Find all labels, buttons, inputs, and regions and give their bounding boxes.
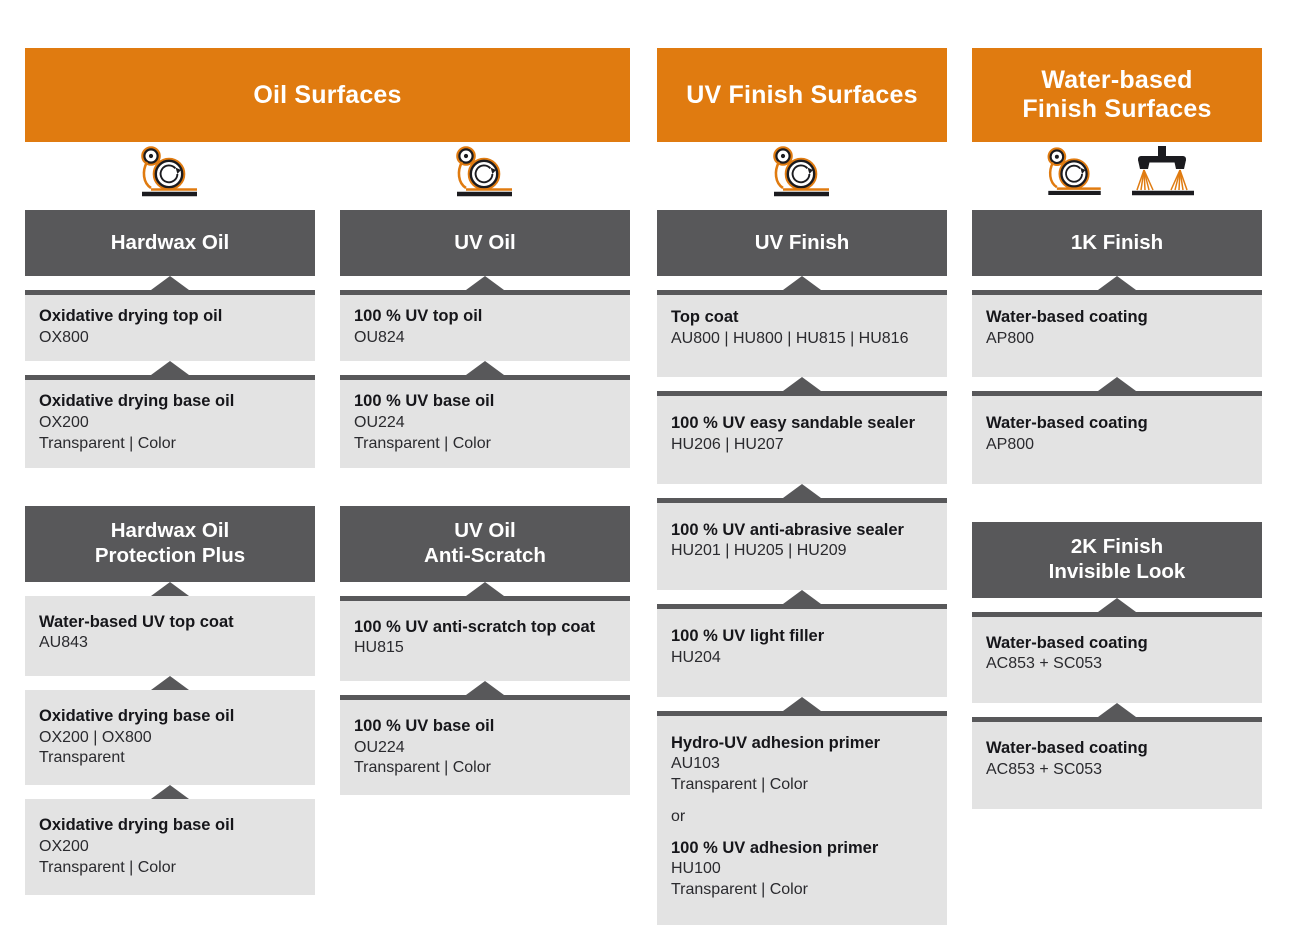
layer-title: Water-based coating <box>986 738 1248 759</box>
stack-2k-finish-invisible-look: 2K Finish Invisible Look Water-based coa… <box>972 522 1262 809</box>
arrow-connector <box>657 276 947 290</box>
stack-uv-oil-anti-scratch: UV Oil Anti-Scratch 100 % UV anti-scratc… <box>340 506 630 796</box>
layer-or-label: or <box>671 807 933 828</box>
layer-title: Top coat <box>671 307 933 328</box>
product-header-line2: Protection Plus <box>95 544 245 569</box>
layer-code: OX200 <box>39 837 301 858</box>
product-header-line1: UV Oil <box>424 519 546 544</box>
stack-hardwax-oil-protection-plus: Hardwax Oil Protection Plus Water-based … <box>25 506 315 895</box>
column-uv-oil: UV Oil 100 % UV top oil OU824 100 % UV b… <box>340 210 630 795</box>
layer-code: AU843 <box>39 633 301 654</box>
layer-box: 100 % UV light filler HU204 <box>657 604 947 696</box>
triangle-up-icon <box>783 590 821 604</box>
triangle-up-icon <box>1098 377 1136 391</box>
arrow-connector <box>25 785 315 799</box>
layer-box: 100 % UV anti-scratch top coat HU815 <box>340 596 630 681</box>
layer-box: Oxidative drying base oil OX200 Transpar… <box>25 799 315 894</box>
layer-code: HU204 <box>671 648 933 669</box>
group-header-water-based-finish-surfaces: Water-based Finish Surfaces <box>972 48 1262 142</box>
layer-code: AP800 <box>986 329 1248 350</box>
layer-box: 100 % UV base oil OU224 Transparent | Co… <box>340 375 630 467</box>
arrow-connector <box>972 377 1262 391</box>
product-header-1k-finish: 1K Finish <box>972 210 1262 276</box>
group-header-title: Oil Surfaces <box>253 81 401 110</box>
triangle-up-icon <box>151 276 189 290</box>
icon-row-uv-oil <box>340 146 630 204</box>
layer-code: HU206 | HU207 <box>671 435 933 456</box>
arrow-connector <box>657 590 947 604</box>
group-header-uv-finish-surfaces: UV Finish Surfaces <box>657 48 947 142</box>
layer-title: Oxidative drying top oil <box>39 306 301 327</box>
icon-row-uv-finish <box>657 146 947 204</box>
product-header-line2: Invisible Look <box>1049 560 1186 585</box>
stack-uv-oil: UV Oil 100 % UV top oil OU824 100 % UV b… <box>340 210 630 468</box>
layer-box: Oxidative drying base oil OX200 Transpar… <box>25 375 315 467</box>
arrow-connector <box>657 377 947 391</box>
product-header-line1: 2K Finish <box>1049 535 1186 560</box>
triangle-up-icon <box>466 276 504 290</box>
product-header-line2: Anti-Scratch <box>424 544 546 569</box>
product-header-line1: UV Finish <box>755 231 850 256</box>
layer-title: 100 % UV anti-scratch top coat <box>354 617 616 638</box>
triangle-up-icon <box>151 582 189 596</box>
layer-code: HU201 | HU205 | HU209 <box>671 541 933 562</box>
triangle-up-icon <box>1098 276 1136 290</box>
arrow-connector <box>972 598 1262 612</box>
layer-code: OX800 <box>39 328 301 349</box>
layer-note-alt: Transparent | Color <box>671 880 933 901</box>
layer-box: 100 % UV anti-abrasive sealer HU201 | HU… <box>657 498 947 590</box>
group-header-title-line1: Water-based <box>1022 66 1211 95</box>
layer-note: Transparent | Color <box>354 434 616 455</box>
product-header-2k-finish-invisible-look: 2K Finish Invisible Look <box>972 522 1262 598</box>
layer-title: Hydro-UV adhesion primer <box>671 733 933 754</box>
triangle-up-icon <box>783 484 821 498</box>
arrow-connector <box>972 703 1262 717</box>
layer-title: Oxidative drying base oil <box>39 391 301 412</box>
icon-row-water-based-finish <box>972 146 1262 204</box>
layer-note: Transparent | Color <box>39 434 301 455</box>
layer-title: 100 % UV base oil <box>354 391 616 412</box>
layer-box: Water-based coating AP800 <box>972 290 1262 377</box>
layer-box: Oxidative drying base oil OX200 | OX800 … <box>25 690 315 785</box>
stack-1k-finish: 1K Finish Water-based coating AP800 Wate… <box>972 210 1262 484</box>
layer-title: 100 % UV anti-abrasive sealer <box>671 520 933 541</box>
layer-code: OX200 <box>39 413 301 434</box>
arrow-connector <box>340 276 630 290</box>
triangle-up-icon <box>466 681 504 695</box>
arrow-connector <box>340 582 630 596</box>
layer-title: Water-based coating <box>986 633 1248 654</box>
stack-hardwax-oil: Hardwax Oil Oxidative drying top oil OX8… <box>25 210 315 468</box>
process-diagram: Oil Surfaces UV Finish Surfaces Water-ba… <box>0 0 1292 936</box>
layer-code: OU224 <box>354 738 616 759</box>
triangle-up-icon <box>1098 703 1136 717</box>
triangle-up-icon <box>151 361 189 375</box>
layer-box: Top coat AU800 | HU800 | HU815 | HU816 <box>657 290 947 377</box>
layer-title: 100 % UV light filler <box>671 626 933 647</box>
arrow-connector <box>657 484 947 498</box>
layer-title: Water-based UV top coat <box>39 612 301 633</box>
layer-title: Oxidative drying base oil <box>39 706 301 727</box>
layer-title: Water-based coating <box>986 307 1248 328</box>
layer-box: Hydro-UV adhesion primer AU103 Transpare… <box>657 711 947 925</box>
product-header-uv-oil: UV Oil <box>340 210 630 276</box>
triangle-up-icon <box>466 361 504 375</box>
product-header-uv-finish: UV Finish <box>657 210 947 276</box>
roller-icon <box>1034 143 1116 204</box>
roller-icon <box>442 143 528 204</box>
layer-note: Transparent | Color <box>354 758 616 779</box>
product-header-line1: Hardwax Oil <box>95 519 245 544</box>
layer-note: Transparent | Color <box>671 775 933 796</box>
layer-box: Water-based coating AC853 + SC053 <box>972 717 1262 808</box>
icon-row-hardwax-oil <box>25 146 315 204</box>
layer-title: 100 % UV top oil <box>354 306 616 327</box>
layer-title: 100 % UV base oil <box>354 716 616 737</box>
arrow-connector <box>657 697 947 711</box>
group-header-title-line2: Finish Surfaces <box>1022 95 1211 124</box>
spray-nozzle-icon <box>1124 143 1200 204</box>
layer-code: AC853 + SC053 <box>986 760 1248 781</box>
group-header-title: UV Finish Surfaces <box>686 81 917 110</box>
layer-note: Transparent <box>39 748 301 769</box>
layer-box: 100 % UV top oil OU824 <box>340 290 630 361</box>
group-header-oil-surfaces: Oil Surfaces <box>25 48 630 142</box>
layer-box: 100 % UV easy sandable sealer HU206 | HU… <box>657 391 947 483</box>
column-uv-finish: UV Finish Top coat AU800 | HU800 | HU815… <box>657 210 947 925</box>
column-hardwax-oil: Hardwax Oil Oxidative drying top oil OX8… <box>25 210 315 895</box>
arrow-connector <box>25 582 315 596</box>
layer-code: OU224 <box>354 413 616 434</box>
layer-code: OX200 | OX800 <box>39 728 301 749</box>
layer-code: HU815 <box>354 638 616 659</box>
layer-title-alt: 100 % UV adhesion primer <box>671 838 933 859</box>
arrow-connector <box>340 361 630 375</box>
product-header-hardwax-oil-protection-plus: Hardwax Oil Protection Plus <box>25 506 315 582</box>
triangle-up-icon <box>783 377 821 391</box>
triangle-up-icon <box>783 697 821 711</box>
layer-title: Water-based coating <box>986 413 1248 434</box>
roller-icon <box>759 143 845 204</box>
triangle-up-icon <box>151 676 189 690</box>
layer-code: AC853 + SC053 <box>986 654 1248 675</box>
arrow-connector <box>25 276 315 290</box>
layer-title: Oxidative drying base oil <box>39 815 301 836</box>
layer-box: Water-based UV top coat AU843 <box>25 596 315 676</box>
layer-box: Water-based coating AC853 + SC053 <box>972 612 1262 703</box>
stack-uv-finish: UV Finish Top coat AU800 | HU800 | HU815… <box>657 210 947 925</box>
roller-icon <box>127 143 213 204</box>
layer-box: 100 % UV base oil OU224 Transparent | Co… <box>340 695 630 795</box>
triangle-up-icon <box>466 582 504 596</box>
layer-note: Transparent | Color <box>39 858 301 879</box>
layer-code: OU824 <box>354 328 616 349</box>
layer-box: Water-based coating AP800 <box>972 391 1262 483</box>
layer-box: Oxidative drying top oil OX800 <box>25 290 315 361</box>
layer-code: AU103 <box>671 754 933 775</box>
product-header-line1: UV Oil <box>454 231 516 256</box>
column-water-based-finish: 1K Finish Water-based coating AP800 Wate… <box>972 210 1262 809</box>
product-header-hardwax-oil: Hardwax Oil <box>25 210 315 276</box>
layer-code: AU800 | HU800 | HU815 | HU816 <box>671 329 933 350</box>
layer-code: AP800 <box>986 435 1248 456</box>
triangle-up-icon <box>151 785 189 799</box>
product-header-uv-oil-anti-scratch: UV Oil Anti-Scratch <box>340 506 630 582</box>
layer-code-alt: HU100 <box>671 859 933 880</box>
arrow-connector <box>340 681 630 695</box>
arrow-connector <box>25 361 315 375</box>
triangle-up-icon <box>783 276 821 290</box>
product-header-line1: Hardwax Oil <box>111 231 230 256</box>
triangle-up-icon <box>1098 598 1136 612</box>
product-header-line1: 1K Finish <box>1071 231 1163 256</box>
arrow-connector <box>25 676 315 690</box>
arrow-connector <box>972 276 1262 290</box>
layer-title: 100 % UV easy sandable sealer <box>671 413 933 434</box>
